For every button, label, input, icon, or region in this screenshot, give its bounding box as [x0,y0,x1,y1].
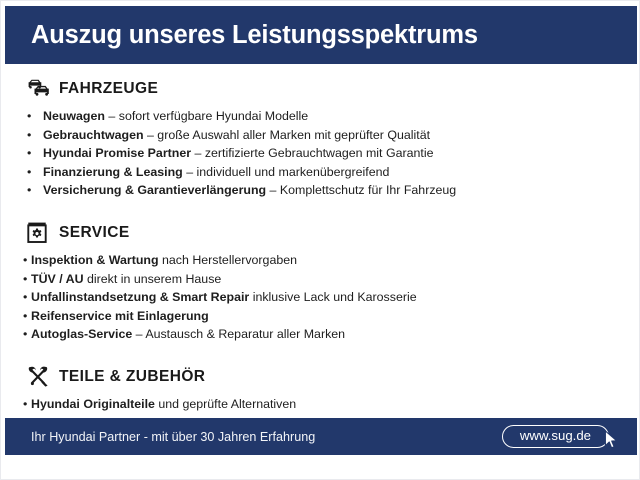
list-item: •Inspektion & Wartung nach Herstellervor… [23,251,640,270]
bullet-icon: • [27,163,43,182]
item-rest: – sofort verfügbare Hyundai Modelle [105,109,308,123]
bullet-icon: • [23,307,31,326]
footer-tagline: Ihr Hyundai Partner - mit über 30 Jahren… [31,430,315,444]
item-lead: Versicherung & Garantieverlängerung [43,183,266,197]
item-lead: Hyundai Promise Partner [43,146,191,160]
item-rest: – individuell und markenübergreifend [183,165,390,179]
item-lead: Finanzierung & Leasing [43,165,183,179]
list-item: •Hyundai Promise Partner – zertifizierte… [27,144,640,163]
item-lead: Autoglas-Service [31,327,132,341]
section-title-parts: TEILE & ZUBEHÖR [59,368,205,386]
bullet-icon: • [27,126,43,145]
list-vehicles: •Neuwagen – sofort verfügbare Hyundai Mo… [1,107,640,200]
section-title-service: SERVICE [59,224,130,242]
list-item: •Reifenservice mit Einlagerung [23,307,640,326]
bullet-icon: • [27,144,43,163]
hammer-and-wrench-icon [27,366,51,388]
url-pill-wrapper: www.sug.de [502,425,609,448]
section-title-vehicles: FAHRZEUGE [59,80,158,98]
mouse-cursor-icon [604,430,620,450]
section-header-parts: TEILE & ZUBEHÖR [27,366,640,388]
bullet-icon: • [27,181,43,200]
item-rest: direkt in unserem Hause [84,272,222,286]
section-service: SERVICE •Inspektion & Wartung nach Herst… [1,222,640,344]
website-url-button[interactable]: www.sug.de [502,425,609,448]
bullet-icon: • [23,288,31,307]
list-item: •Neuwagen – sofort verfügbare Hyundai Mo… [27,107,640,126]
item-lead: Unfallinstandsetzung & Smart Repair [31,290,249,304]
list-item: •Hyundai Originalteile und geprüfte Alte… [23,395,640,414]
item-lead: Neuwagen [43,109,105,123]
item-rest: inklusive Lack und Karosserie [249,290,416,304]
item-lead: Gebrauchtwagen [43,128,144,142]
slide: Auszug unseres Leistungsspektrums [0,0,640,480]
bullet-icon: • [27,107,43,126]
list-item: •Finanzierung & Leasing – individuell un… [27,163,640,182]
list-item: •TÜV / AU direkt in unserem Hause [23,270,640,289]
footer-banner: Ihr Hyundai Partner - mit über 30 Jahren… [5,418,637,455]
item-rest: – Komplettschutz für Ihr Fahrzeug [266,183,456,197]
cars-icon [27,78,51,100]
gear-in-frame-icon [27,222,51,244]
section-header-vehicles: FAHRZEUGE [27,78,640,100]
page-title: Auszug unseres Leistungsspektrums [31,21,478,50]
header-banner: Auszug unseres Leistungsspektrums [5,6,637,64]
item-rest: – zertifizierte Gebrauchtwagen mit Garan… [191,146,433,160]
item-rest: und geprüfte Alternativen [155,397,296,411]
list-item: •Versicherung & Garantieverlängerung – K… [27,181,640,200]
list-item: •Gebrauchtwagen – große Auswahl aller Ma… [27,126,640,145]
section-header-service: SERVICE [27,222,640,244]
list-item: •Autoglas-Service – Austausch & Reparatu… [23,325,640,344]
item-lead: TÜV / AU [31,272,84,286]
item-rest: – große Auswahl aller Marken mit geprüft… [144,128,431,142]
item-rest: – Austausch & Reparatur aller Marken [132,327,345,341]
list-service: •Inspektion & Wartung nach Herstellervor… [1,251,640,344]
item-rest: nach Herstellervorgaben [159,253,297,267]
bullet-icon: • [23,270,31,289]
item-lead: Inspektion & Wartung [31,253,159,267]
section-vehicles: FAHRZEUGE •Neuwagen – sofort verfügbare … [1,78,640,200]
content-area: FAHRZEUGE •Neuwagen – sofort verfügbare … [1,71,640,432]
item-lead: Hyundai Originalteile [31,397,155,411]
bullet-icon: • [23,325,31,344]
list-item: •Unfallinstandsetzung & Smart Repair ink… [23,288,640,307]
item-lead: Reifenservice mit Einlagerung [31,309,209,323]
bullet-icon: • [23,395,31,414]
bullet-icon: • [23,251,31,270]
